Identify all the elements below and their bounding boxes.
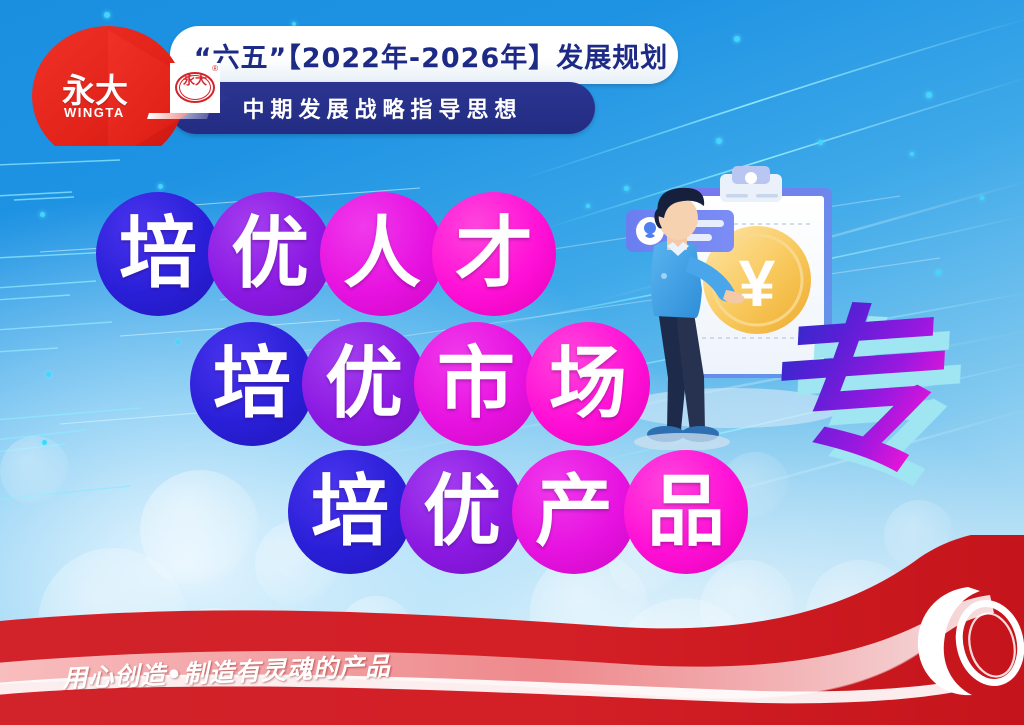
slogan-char-bubble: 培 [96,192,220,316]
slogan-char-bubble: 才 [432,192,556,316]
slogan-char-bubble: 培 [190,322,314,446]
slogan-char-bubble: 优 [302,322,426,446]
poster-canvas: ¥ [0,0,1024,725]
footer-band: 用心创造•制造有灵魂的产品 [0,535,1024,725]
slogan-char-bubble: 场 [526,322,650,446]
slogan-line-1: 培 优 人 才 [96,192,544,316]
slogan-char-bubble: 优 [208,192,332,316]
slogan-char-bubble: 市 [414,322,538,446]
slogan-line-2: 培 优 市 场 [190,322,638,446]
footer-band-svg [0,535,1024,725]
slogan-char-bubble: 人 [320,192,444,316]
